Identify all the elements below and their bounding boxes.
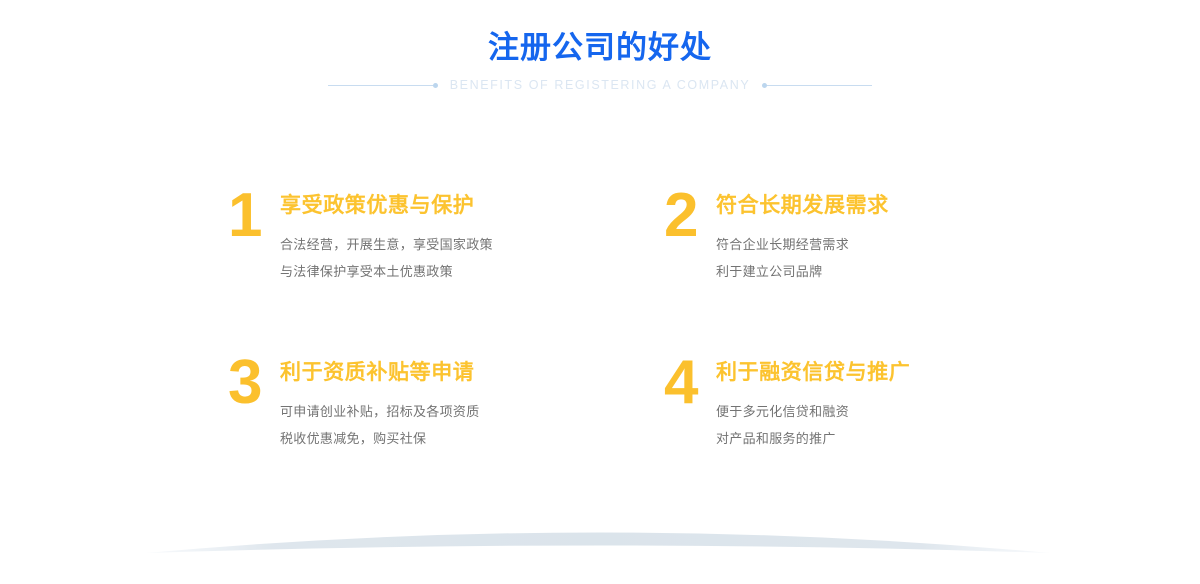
benefits-banner: 注册公司的好处 BENEFITS OF REGISTERING A COMPAN… xyxy=(0,0,1200,584)
benefit-description-line: 符合企业长期经营需求 xyxy=(716,231,889,258)
benefit-body: 利于资质补贴等申请 可申请创业补贴，招标及各项资质 税收优惠减免，购买社保 xyxy=(280,355,480,452)
benefit-item-1: 1 享受政策优惠与保护 合法经营，开展生意，享受国家政策 与法律保护享受本土优惠… xyxy=(228,188,664,355)
benefit-description-line: 与法律保护享受本土优惠政策 xyxy=(280,258,493,285)
benefit-body: 符合长期发展需求 符合企业长期经营需求 利于建立公司品牌 xyxy=(716,188,889,285)
benefit-number: 2 xyxy=(664,188,716,244)
banner-header: 注册公司的好处 BENEFITS OF REGISTERING A COMPAN… xyxy=(0,28,1200,94)
benefits-grid: 1 享受政策优惠与保护 合法经营，开展生意，享受国家政策 与法律保护享受本土优惠… xyxy=(228,188,988,522)
benefit-body: 利于融资信贷与推广 便于多元化信贷和融资 对产品和服务的推广 xyxy=(716,355,910,452)
benefit-item-3: 3 利于资质补贴等申请 可申请创业补贴，招标及各项资质 税收优惠减免，购买社保 xyxy=(228,355,664,522)
benefit-body: 享受政策优惠与保护 合法经营，开展生意，享受国家政策 与法律保护享受本土优惠政策 xyxy=(280,188,493,285)
page-title: 注册公司的好处 xyxy=(0,28,1200,68)
benefit-description-line: 便于多元化信贷和融资 xyxy=(716,398,910,425)
decorative-line-right xyxy=(764,85,872,86)
benefit-description-line: 税收优惠减免，购买社保 xyxy=(280,425,480,452)
benefit-heading: 符合长期发展需求 xyxy=(716,192,889,220)
decorative-line-left xyxy=(328,85,436,86)
benefit-item-4: 4 利于融资信贷与推广 便于多元化信贷和融资 对产品和服务的推广 xyxy=(664,355,988,522)
benefit-description-line: 对产品和服务的推广 xyxy=(716,425,910,452)
benefit-description-line: 可申请创业补贴，招标及各项资质 xyxy=(280,398,480,425)
benefit-heading: 利于融资信贷与推广 xyxy=(716,359,910,387)
benefit-number: 3 xyxy=(228,355,280,411)
arc-band xyxy=(146,533,1050,554)
benefit-item-2: 2 符合长期发展需求 符合企业长期经营需求 利于建立公司品牌 xyxy=(664,188,988,355)
benefit-heading: 享受政策优惠与保护 xyxy=(280,192,493,220)
benefit-number: 4 xyxy=(664,355,716,411)
page-subtitle: BENEFITS OF REGISTERING A COMPANY xyxy=(450,77,751,93)
benefit-number: 1 xyxy=(228,188,280,244)
benefit-heading: 利于资质补贴等申请 xyxy=(280,359,480,387)
benefit-description-line: 合法经营，开展生意，享受国家政策 xyxy=(280,231,493,258)
subtitle-row: BENEFITS OF REGISTERING A COMPANY xyxy=(0,76,1200,94)
benefit-description-line: 利于建立公司品牌 xyxy=(716,258,889,285)
